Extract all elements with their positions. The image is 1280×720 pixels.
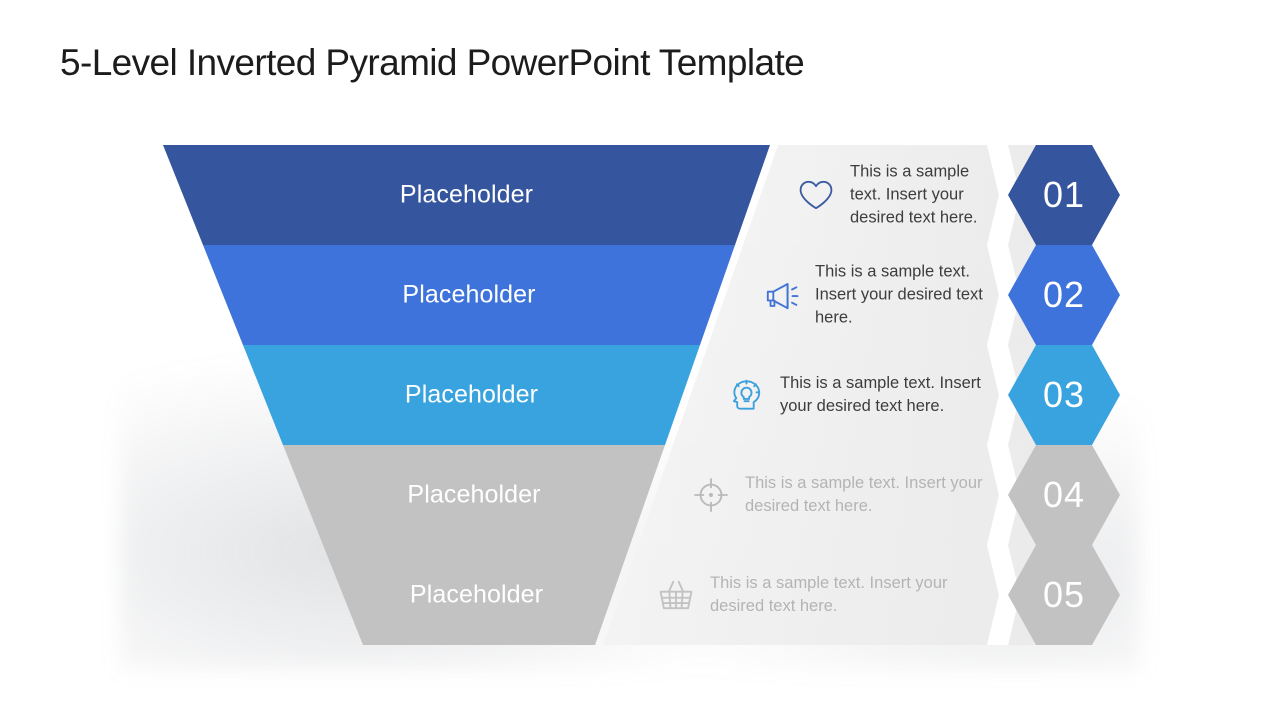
funnel-row[interactable]: PlaceholderThis is a sample text. Insert…	[0, 345, 1280, 445]
description-text: This is a sample text. Insert your desir…	[710, 572, 994, 618]
description-text: This is a sample text. Insert your desir…	[780, 372, 994, 418]
step-number: 05	[1043, 577, 1085, 613]
step-number: 02	[1043, 277, 1085, 313]
funnel-row[interactable]: PlaceholderThis is a sample text. Insert…	[0, 445, 1280, 545]
slide-canvas: 5-Level Inverted Pyramid PowerPoint Temp…	[0, 0, 1280, 720]
page-title: 5-Level Inverted Pyramid PowerPoint Temp…	[60, 42, 804, 84]
funnel-segment[interactable]: Placeholder	[243, 345, 700, 445]
funnel-segment-label: Placeholder	[163, 181, 770, 210]
funnel-segment[interactable]: Placeholder	[163, 145, 770, 245]
megaphone-icon	[757, 271, 805, 319]
description-panel[interactable]: This is a sample text. Insert your desir…	[624, 445, 1075, 545]
head-idea-icon	[722, 371, 770, 419]
shopping-basket-icon	[652, 571, 700, 619]
funnel-segment-label: Placeholder	[203, 281, 735, 310]
funnel-segment-label: Placeholder	[283, 481, 665, 510]
funnel-row[interactable]: PlaceholderThis is a sample text. Insert…	[0, 245, 1280, 345]
step-number: 01	[1043, 177, 1085, 213]
step-number: 04	[1043, 477, 1085, 513]
funnel-row[interactable]: PlaceholderThis is a sample text. Insert…	[0, 145, 1280, 245]
funnel-segment[interactable]: Placeholder	[323, 545, 630, 645]
description-text: This is a sample text. Insert your desir…	[815, 261, 994, 330]
funnel-segment[interactable]: Placeholder	[283, 445, 665, 545]
funnel-row[interactable]: PlaceholderThis is a sample text. Insert…	[0, 545, 1280, 645]
heart-icon	[792, 171, 840, 219]
funnel-segment[interactable]: Placeholder	[203, 245, 735, 345]
description-panel-content: This is a sample text. Insert your desir…	[624, 445, 1075, 545]
funnel-segment-label: Placeholder	[243, 381, 700, 410]
step-number: 03	[1043, 377, 1085, 413]
funnel-segment-label: Placeholder	[323, 581, 630, 610]
target-crosshair-icon	[687, 471, 735, 519]
description-panel-content: This is a sample text. Insert your desir…	[589, 545, 1075, 645]
description-text: This is a sample text. Insert your desir…	[850, 161, 994, 230]
description-panel[interactable]: This is a sample text. Insert your desir…	[589, 545, 1075, 645]
description-text: This is a sample text. Insert your desir…	[745, 472, 994, 518]
